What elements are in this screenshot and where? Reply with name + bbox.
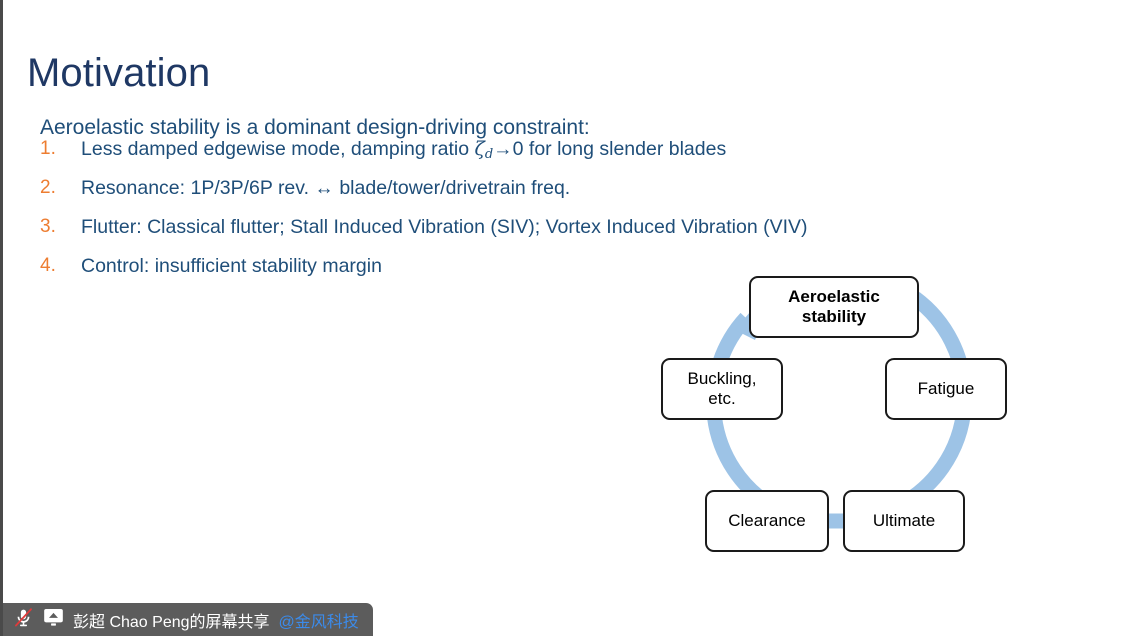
- list-item-text-before: Less damped edgewise mode, damping ratio: [81, 138, 475, 160]
- cycle-node-label-line2: etc.: [708, 389, 735, 408]
- list-item-label: Resonance: 1P/3P/6P rev. ↔ blade/tower/d…: [81, 175, 570, 201]
- list-item: 1. Less damped edgewise mode, damping ra…: [40, 136, 940, 175]
- list-item-label: Less damped edgewise mode, damping ratio…: [81, 136, 726, 168]
- cycle-node-label: Fatigue: [918, 379, 975, 399]
- list-item-marker: 4.: [40, 253, 81, 279]
- screen-share-status-bar: 彭超 Chao Peng的屏幕共享 @金风科技: [3, 603, 373, 636]
- share-presenter-label: 彭超 Chao Peng的屏幕共享: [73, 608, 270, 632]
- cycle-node-label: Clearance: [728, 511, 806, 531]
- cycle-node-label-line1: Aeroelastic: [788, 287, 880, 306]
- page-title: Motivation: [27, 51, 210, 95]
- list-item-marker: 1.: [40, 136, 81, 162]
- cycle-node-label: Aeroelasticstability: [788, 287, 880, 327]
- zeta-symbol: ζ: [475, 138, 485, 160]
- cycle-node-label-line1: Buckling,: [688, 369, 757, 388]
- list-item-label: Flutter: Classical flutter; Stall Induce…: [81, 214, 808, 240]
- cycle-node-aeroelastic-stability: Aeroelasticstability: [749, 276, 919, 338]
- cycle-node-clearance: Clearance: [705, 490, 829, 552]
- cycle-node-fatigue: Fatigue: [885, 358, 1007, 420]
- zeta-subscript: d: [485, 147, 493, 162]
- cycle-node-ultimate: Ultimate: [843, 490, 965, 552]
- list-item-label: Control: insufficient stability margin: [81, 253, 382, 279]
- screen-share-icon[interactable]: [43, 608, 64, 632]
- list-item-marker: 2.: [40, 175, 81, 201]
- cycle-node-label: Buckling,etc.: [688, 369, 757, 409]
- microphone-muted-icon[interactable]: [13, 607, 34, 633]
- list-item-text-after: →0 for long slender blades: [493, 138, 726, 160]
- cycle-node-buckling: Buckling,etc.: [661, 358, 783, 420]
- cycle-diagram: Aeroelasticstability Fatigue Ultimate Cl…: [643, 262, 1043, 562]
- cycle-node-label-line2: stability: [802, 307, 866, 326]
- presentation-slide: Motivation Aeroelastic stability is a do…: [3, 0, 1123, 636]
- cycle-node-label: Ultimate: [873, 511, 935, 531]
- share-organization-label: @金风科技: [279, 608, 359, 632]
- list-item: 3. Flutter: Classical flutter; Stall Ind…: [40, 214, 940, 253]
- list-item: 2. Resonance: 1P/3P/6P rev. ↔ blade/towe…: [40, 175, 940, 214]
- slide-screenshot-root: Motivation Aeroelastic stability is a do…: [0, 0, 1123, 636]
- list-item-marker: 3.: [40, 214, 81, 240]
